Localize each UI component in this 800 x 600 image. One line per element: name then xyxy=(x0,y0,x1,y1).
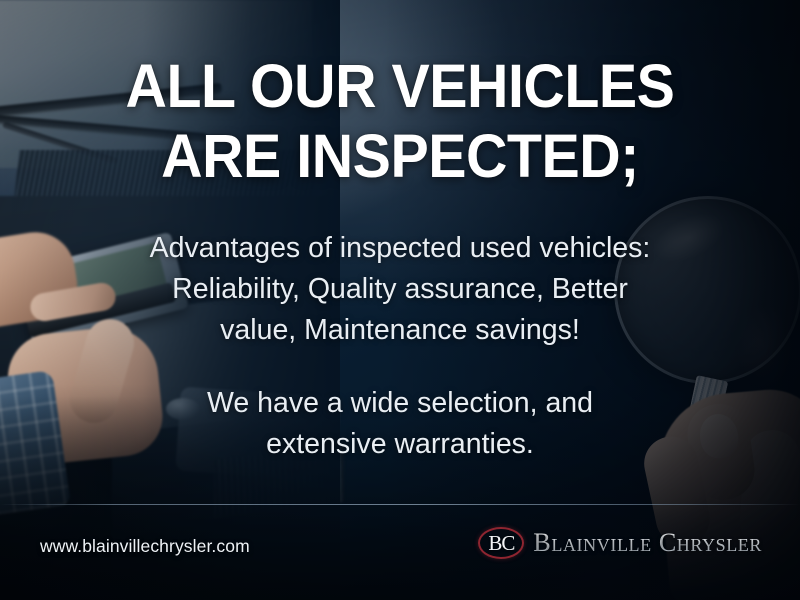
body-paragraph-selection: We have a wide selection, and extensive … xyxy=(0,383,800,465)
logo-monogram-badge: BC xyxy=(478,527,524,559)
body-paragraph-advantages: Advantages of inspected used vehicles: R… xyxy=(0,228,800,351)
slide-content: ALL OUR VEHICLES ARE INSPECTED; Advantag… xyxy=(0,0,800,600)
footer-divider xyxy=(0,504,800,505)
headline: ALL OUR VEHICLES ARE INSPECTED; xyxy=(24,52,776,191)
logo-wordmark: Blainville Chrysler xyxy=(533,528,762,558)
logo-monogram-text: BC xyxy=(488,531,514,556)
body-copy: Advantages of inspected used vehicles: R… xyxy=(0,228,800,465)
brand-logo[interactable]: BC Blainville Chrysler xyxy=(478,527,762,559)
promo-slide: ALL OUR VEHICLES ARE INSPECTED; Advantag… xyxy=(0,0,800,600)
website-url[interactable]: www.blainvillechrysler.com xyxy=(40,536,250,557)
